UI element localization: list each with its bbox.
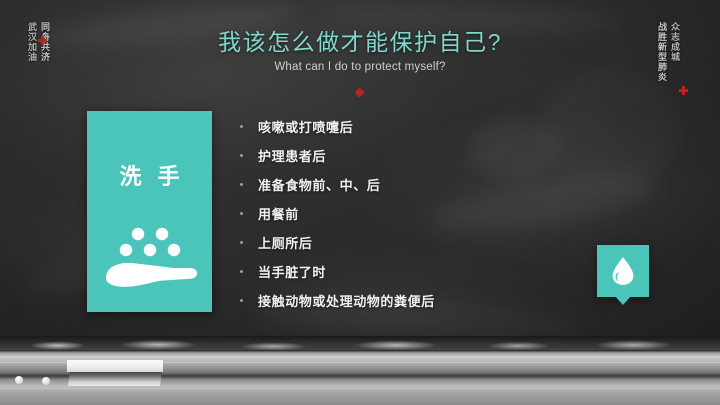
wash-hands-card: 洗 手 (87, 111, 212, 312)
badge-tail (615, 296, 631, 305)
slide-root: 武汉加油 同舟共济 战胜新型肺炎 众志成城 我该怎么做才能保护自己? What … (0, 0, 720, 405)
chalkboard-eraser (67, 360, 163, 386)
water-droplet-icon (610, 256, 636, 286)
bullet-dot-icon (240, 154, 243, 157)
list-item: 用餐前 (240, 199, 660, 228)
bullet-dot-icon (240, 183, 243, 186)
list-item-label: 用餐前 (258, 204, 299, 223)
list-item: 护理患者后 (240, 141, 660, 170)
wash-hands-label: 洗 手 (87, 159, 212, 191)
list-item-label: 上厕所后 (258, 233, 312, 252)
list-item: 咳嗽或打喷嚏后 (240, 112, 660, 141)
bullet-dot-icon (240, 270, 243, 273)
red-cross-icon (679, 86, 688, 95)
page-subtitle: What can I do to protect myself? (0, 61, 720, 73)
hand-washing-icon (100, 222, 200, 294)
list-item: 准备食物前、中、后 (240, 170, 660, 199)
chalk-piece (15, 376, 23, 384)
list-item-label: 护理患者后 (258, 146, 326, 165)
bullet-dot-icon (240, 125, 243, 128)
list-item-label: 当手脏了时 (258, 262, 326, 281)
bullet-dot-icon (240, 299, 243, 302)
bullet-dot-icon (240, 212, 243, 215)
eraser-body (67, 360, 163, 372)
page-title: 我该怎么做才能保护自己? (0, 30, 720, 55)
bullet-dot-icon (240, 241, 243, 244)
droplet-badge (597, 245, 649, 297)
tray-highlight-line (0, 388, 720, 389)
title-block: 我该怎么做才能保护自己? What can I do to protect my… (0, 30, 720, 73)
list-item-label: 接触动物或处理动物的粪便后 (258, 291, 435, 310)
list-item-label: 咳嗽或打喷嚏后 (258, 117, 353, 136)
list-item-label: 准备食物前、中、后 (258, 175, 380, 194)
chalk-piece (42, 377, 50, 385)
